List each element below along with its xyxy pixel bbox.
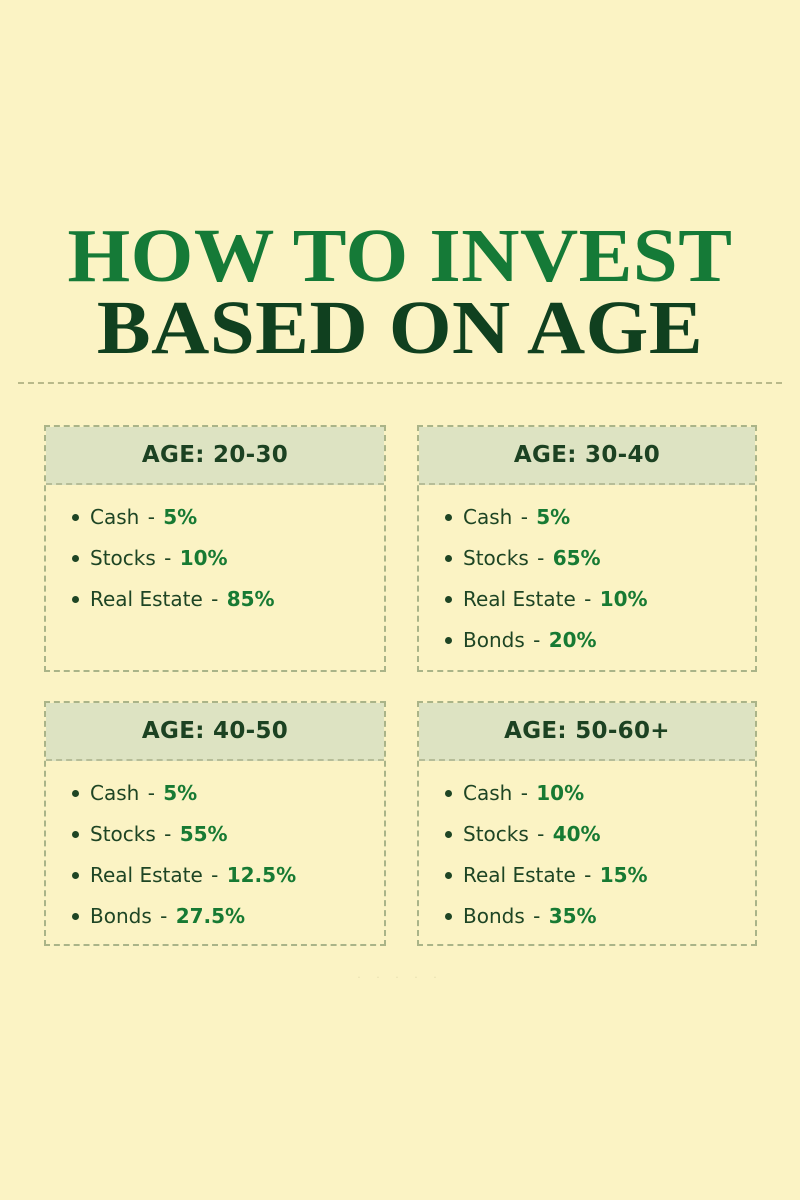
bullet-dot-icon xyxy=(72,790,79,797)
list-item: Real Estate - 12.5% xyxy=(90,865,384,885)
allocation-value: 5% xyxy=(163,505,197,529)
list-item: Cash - 5% xyxy=(90,783,384,803)
list-item: Cash - 5% xyxy=(463,507,755,527)
card-header: AGE: 20-30 xyxy=(46,427,384,485)
allocation-dash: - xyxy=(209,863,220,887)
allocation-value: 10% xyxy=(600,587,648,611)
bullet-dot-icon xyxy=(445,596,452,603)
page-title-line-2: BASED ON AGE xyxy=(0,294,800,364)
allocation-dash: - xyxy=(582,587,593,611)
list-item: Real Estate - 85% xyxy=(90,589,384,609)
allocation-list: Cash - 5%Stocks - 55%Real Estate - 12.5%… xyxy=(46,783,384,926)
allocation-label: Stocks xyxy=(90,546,156,570)
list-item: Stocks - 65% xyxy=(463,548,755,568)
allocation-label: Cash xyxy=(90,505,139,529)
list-item: Bonds - 27.5% xyxy=(90,906,384,926)
bullet-dot-icon xyxy=(445,555,452,562)
title-divider xyxy=(18,382,782,384)
allocation-label: Stocks xyxy=(463,822,529,846)
allocation-label: Stocks xyxy=(90,822,156,846)
allocation-label: Cash xyxy=(463,505,512,529)
card-header-label: AGE: 50-60+ xyxy=(504,718,670,744)
allocation-dash: - xyxy=(162,546,173,570)
list-item: Stocks - 40% xyxy=(463,824,755,844)
page-title: HOW TO INVEST BASED ON AGE xyxy=(0,222,800,364)
allocation-value: 27.5% xyxy=(176,904,245,928)
card-body: Cash - 10%Stocks - 40%Real Estate - 15%B… xyxy=(419,761,755,944)
list-item: Real Estate - 15% xyxy=(463,865,755,885)
allocation-dash: - xyxy=(209,587,220,611)
allocation-label: Cash xyxy=(463,781,512,805)
bullet-dot-icon xyxy=(445,872,452,879)
list-item: Stocks - 55% xyxy=(90,824,384,844)
allocation-value: 5% xyxy=(536,505,570,529)
allocation-label: Bonds xyxy=(463,904,525,928)
bullet-dot-icon xyxy=(72,831,79,838)
allocation-label: Real Estate xyxy=(90,587,203,611)
list-item: Bonds - 35% xyxy=(463,906,755,926)
allocation-list: Cash - 10%Stocks - 40%Real Estate - 15%B… xyxy=(419,783,755,926)
allocation-value: 10% xyxy=(180,546,228,570)
allocation-label: Real Estate xyxy=(90,863,203,887)
allocation-value: 65% xyxy=(553,546,601,570)
bullet-dot-icon xyxy=(72,872,79,879)
allocation-dash: - xyxy=(531,904,542,928)
bullet-dot-icon xyxy=(445,831,452,838)
card-header-label: AGE: 30-40 xyxy=(514,442,660,468)
card-body: Cash - 5%Stocks - 65%Real Estate - 10%Bo… xyxy=(419,485,755,670)
allocation-list: Cash - 5%Stocks - 10%Real Estate - 85% xyxy=(46,507,384,609)
allocation-label: Stocks xyxy=(463,546,529,570)
card-header-label: AGE: 20-30 xyxy=(142,442,288,468)
allocation-value: 15% xyxy=(600,863,648,887)
list-item: Real Estate - 10% xyxy=(463,589,755,609)
allocation-value: 10% xyxy=(536,781,584,805)
allocation-value: 40% xyxy=(553,822,601,846)
age-bracket-card-grid: AGE: 20-30Cash - 5%Stocks - 10%Real Esta… xyxy=(44,425,757,946)
allocation-label: Cash xyxy=(90,781,139,805)
card-header: AGE: 40-50 xyxy=(46,703,384,761)
age-bracket-card: AGE: 50-60+Cash - 10%Stocks - 40%Real Es… xyxy=(417,701,757,946)
age-bracket-card: AGE: 40-50Cash - 5%Stocks - 55%Real Esta… xyxy=(44,701,386,946)
bullet-dot-icon xyxy=(445,637,452,644)
allocation-dash: - xyxy=(519,505,530,529)
infographic-poster: HOW TO INVEST BASED ON AGE AGE: 20-30Cas… xyxy=(0,0,800,1200)
bullet-dot-icon xyxy=(445,913,452,920)
age-bracket-card: AGE: 20-30Cash - 5%Stocks - 10%Real Esta… xyxy=(44,425,386,672)
card-header-label: AGE: 40-50 xyxy=(142,718,288,744)
allocation-label: Real Estate xyxy=(463,587,576,611)
allocation-dash: - xyxy=(535,822,546,846)
bullet-dot-icon xyxy=(445,514,452,521)
list-item: Cash - 5% xyxy=(90,507,384,527)
allocation-value: 35% xyxy=(549,904,597,928)
list-item: Stocks - 10% xyxy=(90,548,384,568)
allocation-value: 20% xyxy=(549,628,597,652)
card-header: AGE: 50-60+ xyxy=(419,703,755,761)
card-body: Cash - 5%Stocks - 10%Real Estate - 85% xyxy=(46,485,384,670)
allocation-label: Real Estate xyxy=(463,863,576,887)
footer-ghost-text: . . . . . xyxy=(0,968,800,981)
bullet-dot-icon xyxy=(72,596,79,603)
allocation-dash: - xyxy=(582,863,593,887)
card-header: AGE: 30-40 xyxy=(419,427,755,485)
allocation-dash: - xyxy=(158,904,169,928)
allocation-dash: - xyxy=(146,781,157,805)
allocation-dash: - xyxy=(531,628,542,652)
allocation-label: Bonds xyxy=(90,904,152,928)
allocation-list: Cash - 5%Stocks - 65%Real Estate - 10%Bo… xyxy=(419,507,755,650)
allocation-value: 85% xyxy=(227,587,275,611)
allocation-value: 55% xyxy=(180,822,228,846)
allocation-value: 12.5% xyxy=(227,863,296,887)
list-item: Bonds - 20% xyxy=(463,630,755,650)
allocation-dash: - xyxy=(519,781,530,805)
bullet-dot-icon xyxy=(445,790,452,797)
bullet-dot-icon xyxy=(72,514,79,521)
allocation-dash: - xyxy=(535,546,546,570)
allocation-label: Bonds xyxy=(463,628,525,652)
card-body: Cash - 5%Stocks - 55%Real Estate - 12.5%… xyxy=(46,761,384,944)
allocation-value: 5% xyxy=(163,781,197,805)
allocation-dash: - xyxy=(146,505,157,529)
allocation-dash: - xyxy=(162,822,173,846)
page-title-line-1: HOW TO INVEST xyxy=(0,222,800,292)
bullet-dot-icon xyxy=(72,555,79,562)
bullet-dot-icon xyxy=(72,913,79,920)
age-bracket-card: AGE: 30-40Cash - 5%Stocks - 65%Real Esta… xyxy=(417,425,757,672)
list-item: Cash - 10% xyxy=(463,783,755,803)
